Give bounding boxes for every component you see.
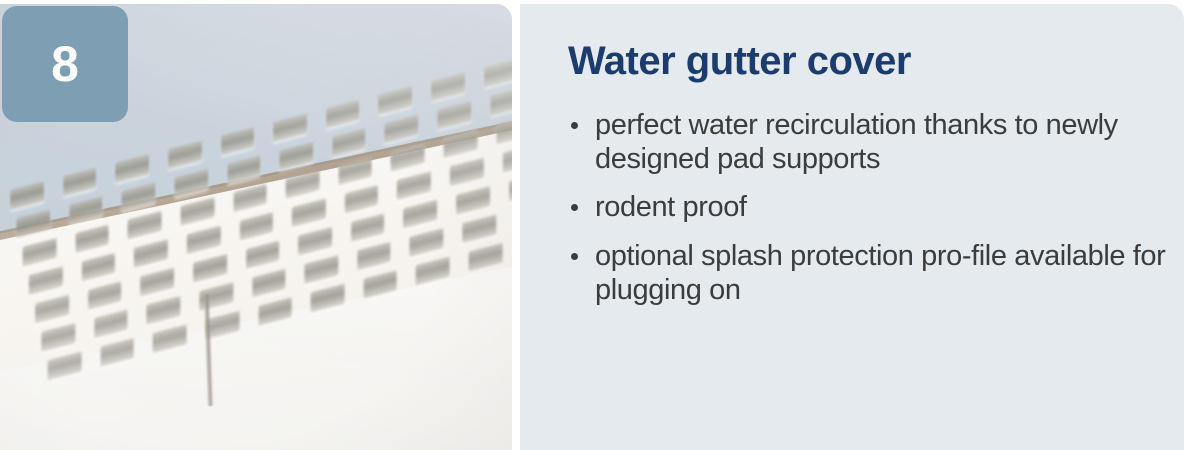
grate-slot bbox=[140, 268, 174, 297]
grate-slot bbox=[416, 257, 450, 286]
grate-slot bbox=[193, 254, 227, 283]
grate-slot bbox=[305, 255, 339, 284]
grate-slot bbox=[153, 324, 187, 353]
grate-slot bbox=[69, 196, 103, 225]
bullet-icon bbox=[571, 253, 578, 260]
grate-slot bbox=[351, 213, 385, 242]
grate-slot bbox=[180, 197, 214, 226]
grate-slot bbox=[397, 171, 431, 200]
grate-slot bbox=[444, 129, 478, 158]
grate-slot bbox=[311, 284, 345, 313]
grate-slot bbox=[456, 186, 490, 215]
grate-slot bbox=[122, 183, 156, 212]
grate-slot bbox=[48, 352, 82, 381]
feature-callout-card: 8 Water gutter cover perfect water recir… bbox=[0, 0, 1190, 450]
grate-slot bbox=[332, 128, 366, 157]
grate-slot bbox=[81, 253, 115, 282]
grate-slot bbox=[490, 87, 512, 116]
grate-slot bbox=[88, 281, 122, 310]
feature-text: perfect water recirculation thanks to ne… bbox=[595, 109, 1118, 175]
grate-slot bbox=[147, 296, 181, 325]
grate-slot bbox=[134, 239, 168, 268]
grate-slot bbox=[292, 199, 326, 228]
grate-slot bbox=[41, 323, 75, 352]
grate-slot bbox=[469, 243, 503, 272]
grate-slot bbox=[29, 266, 63, 295]
grate-slot bbox=[258, 297, 292, 326]
grate-slot bbox=[338, 157, 372, 186]
grate-slot bbox=[385, 115, 419, 144]
grate-slot bbox=[75, 225, 109, 254]
grate-slot bbox=[298, 227, 332, 256]
grate-slot bbox=[227, 155, 261, 184]
grate-slot bbox=[496, 116, 512, 145]
feature-text: optional splash protection pro-file avai… bbox=[595, 240, 1165, 306]
grate-slot bbox=[404, 200, 438, 229]
grate-slot bbox=[391, 143, 425, 172]
grate-slot bbox=[345, 185, 379, 214]
grate-slot bbox=[437, 101, 471, 130]
grate-slot bbox=[246, 241, 280, 270]
grate-slot bbox=[23, 238, 57, 267]
grate-slot bbox=[462, 215, 496, 244]
grate-slot bbox=[94, 310, 128, 339]
feature-list-item: rodent proof bbox=[568, 190, 1168, 224]
feature-text: rodent proof bbox=[595, 191, 747, 223]
bullet-icon bbox=[571, 122, 578, 129]
grate-slot bbox=[503, 144, 512, 173]
grate-slot bbox=[239, 212, 273, 241]
grate-slot bbox=[233, 184, 267, 213]
grate-slot bbox=[363, 270, 397, 299]
step-number-label: 8 bbox=[51, 39, 79, 89]
grate-slot bbox=[174, 169, 208, 198]
grate-slot bbox=[252, 269, 286, 298]
feature-list-item: perfect water recirculation thanks to ne… bbox=[568, 108, 1168, 176]
grate-slot bbox=[450, 158, 484, 187]
grate-slot bbox=[509, 173, 512, 202]
feature-list-item: optional splash protection pro-file avai… bbox=[568, 239, 1168, 307]
grate-slot bbox=[410, 228, 444, 257]
grate-slot bbox=[128, 211, 162, 240]
step-number-badge: 8 bbox=[2, 6, 128, 122]
grate-slot bbox=[357, 242, 391, 271]
grate-slot bbox=[100, 338, 134, 367]
feature-text-panel: Water gutter cover perfect water recircu… bbox=[520, 4, 1184, 450]
feature-list: perfect water recirculation thanks to ne… bbox=[568, 108, 1168, 307]
grate-slot bbox=[286, 170, 320, 199]
grate-slot bbox=[16, 210, 50, 239]
grate-slot bbox=[279, 142, 313, 171]
bullet-icon bbox=[571, 204, 578, 211]
page-title: Water gutter cover bbox=[568, 40, 911, 82]
grate-slot bbox=[35, 295, 69, 324]
grate-slot bbox=[187, 226, 221, 255]
